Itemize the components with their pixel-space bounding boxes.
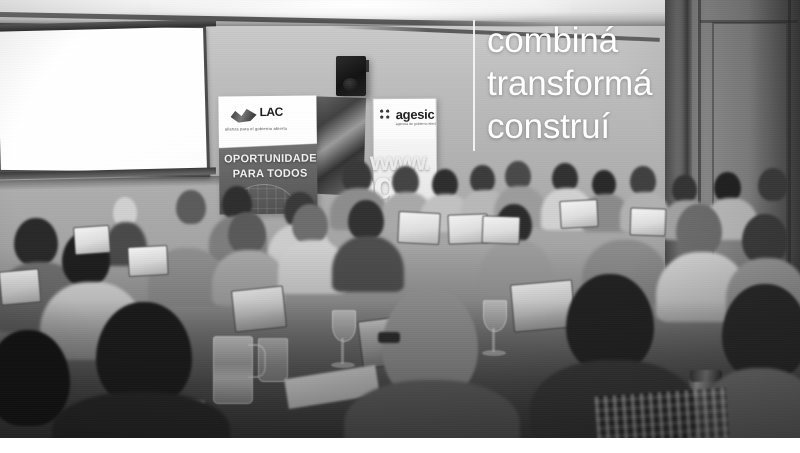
foreground-attendee-head <box>566 274 654 372</box>
attendee-head <box>292 204 328 244</box>
attendee-head <box>676 204 722 256</box>
overlay-line-3: construí <box>487 105 787 148</box>
banner-logo-text: LAC <box>259 105 282 119</box>
attendee-head <box>166 208 206 252</box>
overlay-slogan: combiná transformá construí <box>487 19 787 148</box>
wine-glass <box>332 310 356 342</box>
attendee-head <box>742 214 788 264</box>
wood-panel-seam-b <box>788 0 791 280</box>
handshake-logo-icon <box>230 107 256 123</box>
attendee-head <box>228 212 266 254</box>
banner-slogan: OPORTUNIDADES PARA TODOS <box>224 151 316 182</box>
overlay-line-2: transformá <box>487 62 787 105</box>
laptop <box>482 215 521 244</box>
eyeglasses-icon <box>378 332 400 343</box>
laptop <box>73 225 111 255</box>
banner-logo: LAC <box>230 104 304 127</box>
attendee-head <box>758 168 788 201</box>
overlay-line-1: combiná <box>487 19 787 62</box>
laptop <box>127 245 169 277</box>
attendee-torso <box>332 236 404 292</box>
projection-screen <box>0 23 210 177</box>
wine-glass-stem <box>341 338 344 364</box>
screenshot-root: LAC alianza para el gobierno abierto OPO… <box>0 0 800 453</box>
plaid-shirt <box>594 387 729 438</box>
laptop <box>559 199 598 229</box>
overlay-vertical-rule <box>473 20 475 151</box>
drinking-glass <box>258 338 288 382</box>
agesic-logo-icon <box>380 109 392 121</box>
foreground-attendee-head <box>722 284 800 380</box>
attendee-head <box>592 170 616 197</box>
foreground-attendee-head <box>96 302 192 406</box>
wine-glass-foot <box>482 350 506 356</box>
projection-screen-surface <box>0 26 207 172</box>
agesic-logo-text: agesic <box>396 107 435 122</box>
conference-photograph: LAC alianza para el gobierno abierto OPO… <box>0 0 800 438</box>
wall-speaker-icon <box>336 56 366 96</box>
attendee-head <box>14 218 58 266</box>
laptop <box>397 211 441 245</box>
wine-glass <box>483 300 507 332</box>
wine-glass-foot <box>331 362 355 368</box>
attendee-head <box>672 175 697 203</box>
banner-logo-subtitle: alianza para el gobierno abierto <box>225 126 311 132</box>
attendee-head <box>348 200 384 240</box>
attendee-head <box>470 165 495 193</box>
agesic-tagline: agencia de gobierno electrónico y socied… <box>396 121 438 126</box>
bottom-white-strip <box>0 438 800 453</box>
speaker-cone <box>343 78 358 91</box>
water-pitcher <box>213 336 253 404</box>
attendee-head <box>630 166 656 195</box>
wine-glass-stem <box>492 328 495 352</box>
laptop <box>630 207 667 236</box>
